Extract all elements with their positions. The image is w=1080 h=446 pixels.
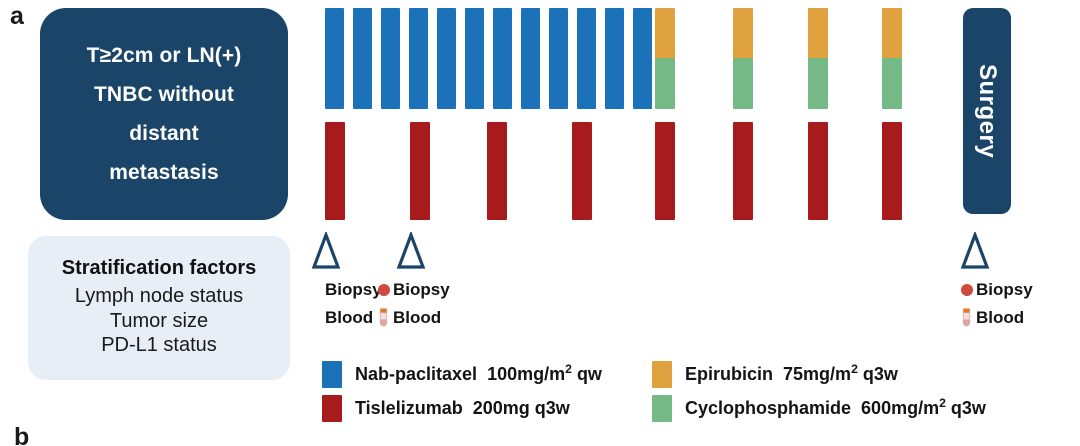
blood-row: Blood <box>376 308 441 327</box>
trial-schema-figure: a b T≥2cm or LN(+) TNBC without distant … <box>0 0 1080 446</box>
eligibility-criteria-box: T≥2cm or LN(+) TNBC without distant meta… <box>40 8 288 220</box>
legend-schedule: q3w <box>951 398 986 418</box>
legend-dose: 100mg/m <box>487 364 565 384</box>
cyclophosphamide-swatch <box>652 395 672 422</box>
eligibility-line: metastasis <box>109 162 219 183</box>
nab-paclitaxel-bar <box>353 8 372 109</box>
blood-label: Blood <box>393 309 441 326</box>
nab-paclitaxel-bar <box>325 8 344 109</box>
nab-paclitaxel-bar <box>605 8 624 109</box>
legend-dose: 75mg/m <box>783 364 851 384</box>
legend-schedule: q3w <box>863 364 898 384</box>
blood-tube-icon <box>308 308 323 327</box>
epirubicin-cyclophosphamide-bar <box>655 8 675 109</box>
eligibility-line: TNBC without <box>94 84 234 105</box>
eligibility-line: T≥2cm or LN(+) <box>87 45 242 66</box>
tislelizumab-bar <box>733 122 753 220</box>
timepoint-cycle-1: Biopsy Blood <box>396 232 496 340</box>
legend-label: Nab-paclitaxel 100mg/m2 qw <box>355 365 602 385</box>
legend-dose: 200mg <box>473 398 530 418</box>
tislelizumab-bar <box>410 122 430 220</box>
epirubicin-cyclophosphamide-bar <box>808 8 828 109</box>
triangle-outline-icon <box>396 232 426 270</box>
nab-paclitaxel-bar <box>381 8 400 109</box>
legend-drug: Tislelizumab <box>355 398 463 418</box>
nab-paclitaxel-bar <box>465 8 484 109</box>
triangle-outline-icon <box>960 232 990 270</box>
blood-tube-icon <box>959 308 974 327</box>
legend-dose-exponent: 2 <box>565 362 572 376</box>
stratification-item: Lymph node status <box>75 284 243 308</box>
nab-paclitaxel-swatch <box>322 361 342 388</box>
legend-label: Tislelizumab 200mg q3w <box>355 399 570 419</box>
legend-item-epirubicin: Epirubicin 75mg/m2 q3w <box>652 361 898 388</box>
nab-paclitaxel-bar <box>577 8 596 109</box>
cyclophosphamide-segment <box>733 58 753 109</box>
blood-label: Blood <box>325 309 373 326</box>
biopsy-dot-icon <box>959 280 974 299</box>
epirubicin-segment <box>733 8 753 58</box>
biopsy-label: Biopsy <box>325 281 382 298</box>
stratification-item: PD-L1 status <box>101 333 217 357</box>
legend-label: Cyclophosphamide 600mg/m2 q3w <box>685 399 986 419</box>
biopsy-label: Biopsy <box>393 281 450 298</box>
eligibility-line: distant <box>129 123 199 144</box>
epirubicin-segment <box>882 8 902 58</box>
legend-drug: Cyclophosphamide <box>685 398 851 418</box>
nab-paclitaxel-bar <box>549 8 568 109</box>
blood-row: Blood <box>959 308 1024 327</box>
stratification-item: Tumor size <box>110 309 208 333</box>
cyclophosphamide-segment <box>808 58 828 109</box>
biopsy-row: Biopsy <box>376 280 450 299</box>
legend-dose-exponent: 2 <box>939 396 946 410</box>
legend: Nab-paclitaxel 100mg/m2 qw Tislelizumab … <box>322 361 1062 423</box>
cyclophosphamide-segment <box>882 58 902 109</box>
surgery-box: Surgery <box>963 8 1011 214</box>
triangle-outline-icon <box>311 232 341 270</box>
nab-paclitaxel-bar <box>409 8 428 109</box>
tislelizumab-bar <box>572 122 592 220</box>
stratification-factors-box: Stratification factors Lymph node status… <box>28 236 290 380</box>
blood-label: Blood <box>976 309 1024 326</box>
tislelizumab-bar <box>882 122 902 220</box>
legend-item-cyclophosphamide: Cyclophosphamide 600mg/m2 q3w <box>652 395 986 422</box>
biopsy-row: Biopsy <box>959 280 1033 299</box>
legend-drug: Nab-paclitaxel <box>355 364 477 384</box>
surgery-label: Surgery <box>973 64 1001 158</box>
nab-paclitaxel-bar <box>521 8 540 109</box>
stratification-title: Stratification factors <box>62 258 256 279</box>
nab-paclitaxel-bar <box>437 8 456 109</box>
biopsy-dot-icon <box>376 280 391 299</box>
tislelizumab-bar <box>808 122 828 220</box>
legend-schedule: qw <box>577 364 602 384</box>
epirubicin-segment <box>655 8 675 58</box>
biopsy-label: Biopsy <box>976 281 1033 298</box>
tislelizumab-bar <box>655 122 675 220</box>
epirubicin-cyclophosphamide-bar <box>882 8 902 109</box>
cyclophosphamide-segment <box>655 58 675 109</box>
tislelizumab-bar <box>487 122 507 220</box>
legend-item-tislelizumab: Tislelizumab 200mg q3w <box>322 395 570 422</box>
nab-paclitaxel-bar <box>493 8 512 109</box>
blood-row: Blood <box>308 308 373 327</box>
timepoint-pre-surgery: Biopsy Blood <box>960 232 1070 340</box>
panel-b-letter: b <box>14 425 29 446</box>
panel-a-letter: a <box>10 2 24 31</box>
epirubicin-segment <box>808 8 828 58</box>
legend-label: Epirubicin 75mg/m2 q3w <box>685 365 898 385</box>
legend-item-nab-paclitaxel: Nab-paclitaxel 100mg/m2 qw <box>322 361 602 388</box>
epirubicin-swatch <box>652 361 672 388</box>
epirubicin-cyclophosphamide-bar <box>733 8 753 109</box>
legend-schedule: q3w <box>535 398 570 418</box>
biopsy-row: Biopsy <box>308 280 382 299</box>
legend-dose: 600mg/m <box>861 398 939 418</box>
nab-paclitaxel-bar <box>633 8 652 109</box>
tislelizumab-bar <box>325 122 345 220</box>
biopsy-dot-icon <box>308 280 323 299</box>
tislelizumab-swatch <box>322 395 342 422</box>
legend-dose-exponent: 2 <box>851 362 858 376</box>
blood-tube-icon <box>376 308 391 327</box>
legend-drug: Epirubicin <box>685 364 773 384</box>
